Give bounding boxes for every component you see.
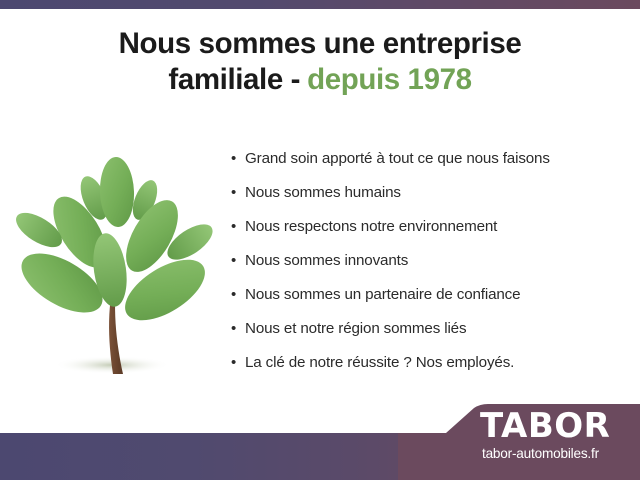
brand-logo[interactable]: TABOR tabor-automobiles.fr xyxy=(480,409,640,461)
brand-wordmark: TABOR xyxy=(480,409,640,443)
top-accent-bar xyxy=(0,0,640,9)
list-item-label: La clé de notre réussite ? Nos employés. xyxy=(245,354,514,371)
page-title-line-2-green: depuis 1978 xyxy=(307,63,472,96)
list-item-label: Nous sommes humains xyxy=(245,184,401,201)
bullet-marker-icon: • xyxy=(231,253,245,268)
bullet-marker-icon: • xyxy=(231,219,245,234)
bullet-marker-icon: • xyxy=(231,151,245,166)
list-item: • Nous et notre région sommes liés xyxy=(231,320,631,354)
tree-svg xyxy=(12,150,227,390)
tree-illustration xyxy=(12,150,227,390)
bullet-marker-icon: • xyxy=(231,185,245,200)
list-item: • La clé de notre réussite ? Nos employé… xyxy=(231,354,631,388)
list-item-label: Grand soin apporté à tout ce que nous fa… xyxy=(245,150,550,167)
list-item: • Nous sommes humains xyxy=(231,184,631,218)
list-item-label: Nous et notre région sommes liés xyxy=(245,320,466,337)
brand-tagline: tabor-automobiles.fr xyxy=(482,447,640,461)
benefits-list: • Grand soin apporté à tout ce que nous … xyxy=(231,150,631,388)
bullet-marker-icon: • xyxy=(231,287,245,302)
slide-canvas: Nous sommes une entreprise familiale -de… xyxy=(0,0,640,480)
bullet-marker-icon: • xyxy=(231,321,245,336)
list-item: • Nous sommes un partenaire de confiance xyxy=(231,286,631,320)
list-item-label: Nous sommes un partenaire de confiance xyxy=(245,286,520,303)
page-title-line-2: familiale -depuis 1978 xyxy=(0,62,640,98)
list-item: • Grand soin apporté à tout ce que nous … xyxy=(231,150,631,184)
page-title-line-1: Nous sommes une entreprise xyxy=(0,26,640,62)
page-title-line-2-black: familiale - xyxy=(168,63,300,96)
bullet-marker-icon: • xyxy=(231,355,245,370)
list-item: • Nous respectons notre environnement xyxy=(231,218,631,252)
page-title: Nous sommes une entreprise familiale -de… xyxy=(0,26,640,98)
list-item: • Nous sommes innovants xyxy=(231,252,631,286)
list-item-label: Nous respectons notre environnement xyxy=(245,218,497,235)
list-item-label: Nous sommes innovants xyxy=(245,252,408,269)
tree-leaves xyxy=(12,156,218,332)
